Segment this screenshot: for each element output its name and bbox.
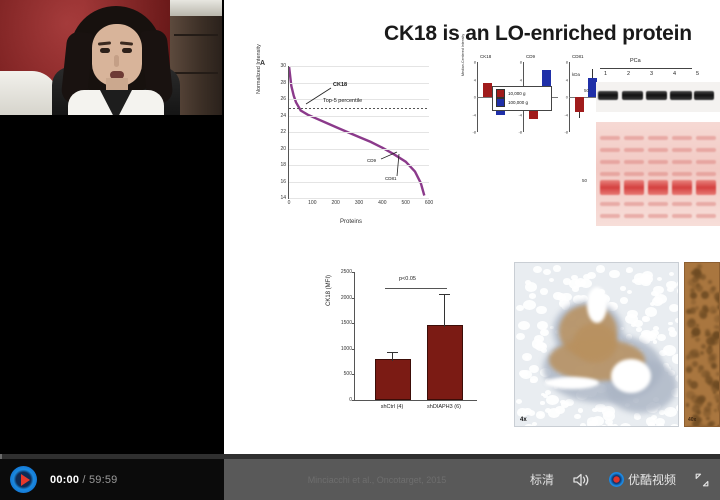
- alveolar-space: [620, 297, 628, 304]
- blot-lane-number: 2: [627, 71, 630, 77]
- dab-stained-cell: [708, 280, 712, 284]
- dab-stained-cell: [698, 395, 705, 402]
- alveolar-space: [659, 410, 665, 415]
- fullscreen-button[interactable]: [694, 472, 710, 488]
- alveolar-space: [523, 408, 531, 415]
- cabinet-drawer-line: [174, 72, 218, 74]
- bar-chart-bar: [375, 359, 411, 400]
- line-chart-x-tick: 0: [288, 200, 291, 206]
- alveolar-space: [657, 277, 662, 281]
- ponceau-faint-band: [648, 148, 668, 152]
- dab-stained-cell: [709, 306, 717, 314]
- dab-stained-cell: [708, 339, 715, 346]
- line-chart-y-tick: 22: [280, 129, 286, 135]
- dab-stained-cell: [700, 274, 706, 280]
- alveolar-space: [651, 415, 657, 420]
- dab-stained-cell: [709, 288, 715, 294]
- dab-stained-cell: [695, 337, 700, 342]
- ponceau-faint-band: [672, 202, 692, 206]
- legend-item: 10,000 g: [496, 89, 548, 98]
- alveolar-space: [523, 300, 536, 310]
- volume-button[interactable]: [572, 472, 591, 488]
- dab-stained-cell: [691, 299, 696, 304]
- alveolar-space: [561, 401, 570, 408]
- dab-stained-cell: [687, 319, 696, 328]
- alveolar-space: [546, 395, 559, 405]
- bar-chart-y-axis-label: CK18 (MFI): [326, 275, 332, 306]
- bar-chart-plot: 05001000150020002500 shCtrl (4)shDIAPH3 …: [354, 272, 477, 401]
- alveolar-space: [540, 343, 546, 348]
- mini-chart-title: CD9: [526, 54, 535, 59]
- alveolar-space: [642, 316, 649, 321]
- western-blot: PCa kDa 50 12345: [570, 58, 720, 116]
- fullscreen-icon: [694, 472, 710, 488]
- annotation-top5: Top-5 percentile: [323, 98, 362, 104]
- line-chart-gridline: [289, 116, 429, 117]
- ponceau-faint-band: [696, 148, 716, 152]
- dab-stained-cell: [697, 264, 702, 269]
- alveolar-space: [518, 321, 530, 330]
- dab-stained-cell: [711, 363, 717, 369]
- alveolar-space: [608, 423, 613, 427]
- alveolar-space: [609, 270, 619, 278]
- slide-area[interactable]: CK18 is an LO-enriched protein A Normali…: [224, 0, 720, 454]
- alveolar-space: [539, 413, 543, 416]
- mini-chart-title: CK18: [480, 54, 491, 59]
- legend-label-10000g: 10,000 g: [508, 91, 526, 96]
- blot-group-rule: [600, 68, 692, 69]
- ponceau-faint-band: [600, 160, 620, 164]
- line-chart-y-tick: 14: [280, 195, 286, 201]
- legend-swatch-100000g: [496, 98, 505, 107]
- line-chart-gridline: [289, 132, 429, 133]
- alveolar-space: [669, 304, 679, 312]
- ponceau-faint-band: [672, 172, 692, 176]
- blot-band: [670, 91, 692, 100]
- alveolar-space: [672, 354, 679, 364]
- line-chart-gridline: [289, 149, 429, 150]
- brand-label: 优酷视频: [628, 471, 676, 488]
- alveolar-space: [516, 333, 525, 340]
- bar-chart-y-tick: 2000: [341, 295, 352, 301]
- ponceau-faint-band: [600, 148, 620, 152]
- presenter-eye-left: [100, 48, 110, 53]
- ponceau-faint-band: [624, 214, 644, 218]
- cabinet-drawer-line: [174, 34, 218, 36]
- ponceau-faint-band: [624, 202, 644, 206]
- ponceau-faint-band: [600, 202, 620, 206]
- dab-stained-cell: [700, 351, 704, 355]
- line-chart-x-tick: 400: [378, 200, 386, 206]
- bar-chart-error-cap: [387, 352, 398, 353]
- alveolar-space: [563, 278, 571, 284]
- alveolar-space: [675, 318, 679, 323]
- blot-lane-number: 4: [673, 71, 676, 77]
- mini-chart-y-tick: 0: [474, 95, 476, 100]
- blot-marker-label: 50: [584, 88, 589, 93]
- dab-stained-cell: [686, 365, 693, 372]
- line-chart-x-tick: 600: [425, 200, 433, 206]
- alveolar-space: [533, 266, 542, 274]
- mini-chart-y-tick: 8: [566, 60, 568, 65]
- desk: [0, 71, 58, 115]
- slide-citation: Minciacchi et al., Oncotarget, 2015: [224, 475, 530, 485]
- line-chart-y-tick: 24: [280, 113, 286, 119]
- alveolar-space: [534, 335, 544, 343]
- alveolar-space: [575, 278, 586, 287]
- alveolar-space: [603, 411, 615, 421]
- magnification-label-40x: 40x: [688, 417, 696, 423]
- mini-chart-y-tick: -8: [472, 130, 476, 135]
- line-chart-x-tick: 200: [331, 200, 339, 206]
- bar-chart-tick-mark: [352, 272, 355, 273]
- line-chart-gridline: [289, 182, 429, 183]
- bar-chart-y-tick: 500: [344, 371, 352, 377]
- blot-band: [598, 91, 618, 100]
- alveolar-space: [653, 326, 659, 331]
- alveolar-space: [654, 294, 666, 304]
- ponceau-faint-band: [672, 148, 692, 152]
- alveolar-space: [529, 293, 536, 299]
- line-chart-x-tick: 100: [308, 200, 316, 206]
- line-chart-gridline: [289, 83, 429, 84]
- presenter-eye-right: [122, 48, 132, 53]
- bar-chart-bar: [427, 325, 463, 400]
- ponceau-faint-band: [696, 202, 716, 206]
- line-chart-gridline: [289, 165, 429, 166]
- total-time: 59:59: [89, 474, 118, 486]
- bar-chart-tick-mark: [352, 298, 355, 299]
- mini-chart-y-tick: 8: [474, 60, 476, 65]
- alveolar-space: [677, 280, 679, 288]
- alveolar-space: [620, 423, 631, 427]
- line-chart-x-tick: 300: [355, 200, 363, 206]
- ponceau-faint-band: [600, 214, 620, 218]
- dab-stained-cell: [686, 426, 694, 427]
- alveolar-space: [543, 269, 550, 275]
- dab-stained-cell: [706, 417, 709, 420]
- mini-chart-y-tick: 4: [474, 77, 476, 82]
- ponceau-faint-band: [600, 172, 620, 176]
- dab-stained-cell: [686, 403, 690, 407]
- alveolar-space: [557, 293, 566, 300]
- player-toolbar: 00:00 / 59:59 Minciacchi et al., Oncotar…: [0, 459, 720, 500]
- alveolar-space: [580, 423, 587, 427]
- play-icon: [21, 474, 30, 486]
- ponceau-faint-band: [648, 172, 668, 176]
- bar-chart-error-cap: [439, 294, 450, 295]
- alveolar-space: [540, 401, 544, 404]
- mini-chart-y-tick: -4: [518, 112, 522, 117]
- line-chart-y-tick: 16: [280, 179, 286, 185]
- ponceau-band: [696, 180, 716, 195]
- cabinet-top: [170, 0, 222, 16]
- dab-stained-cell: [716, 372, 720, 376]
- significance-bar: [385, 288, 447, 289]
- ponceau-faint-band: [672, 136, 692, 140]
- current-time: 00:00: [50, 474, 79, 486]
- alveolar-space: [522, 353, 532, 361]
- line-chart-y-tick: 30: [280, 63, 286, 69]
- mini-chart-y-tick: -8: [518, 130, 522, 135]
- dab-stained-cell: [692, 276, 699, 283]
- legend-label-100000g: 100,000 g: [508, 100, 528, 105]
- annotation-cd9: CD9: [367, 158, 376, 163]
- blot-kda-label: kDa: [572, 72, 580, 77]
- webcam-feed[interactable]: [0, 0, 222, 115]
- blot-lane-number: 1: [604, 71, 607, 77]
- blot-membrane: [596, 82, 720, 112]
- alveolar-space: [525, 282, 538, 292]
- bar-chart-x-tick: shDIAPH3 (6): [427, 404, 461, 410]
- youku-logo-icon: [609, 472, 624, 487]
- alveolar-space: [634, 273, 646, 283]
- alveolar-space: [669, 330, 678, 337]
- alveolar-space: [548, 408, 560, 417]
- ponceau-stain-gel: [596, 122, 720, 226]
- line-chart-y-axis-label: Normalized Intensity: [256, 44, 262, 94]
- bar-chart-error-bar: [392, 353, 393, 361]
- alveolar-space: [653, 340, 658, 344]
- alveolar-space: [669, 272, 674, 276]
- mini-chart-y-tick: -8: [564, 130, 568, 135]
- ponceau-faint-band: [624, 148, 644, 152]
- dab-stained-cell: [688, 351, 696, 359]
- dab-stained-cell: [695, 306, 699, 310]
- presenter: [62, 6, 170, 115]
- dab-stained-cell: [703, 425, 706, 427]
- alveolar-space: [596, 265, 605, 272]
- ponceau-faint-band: [696, 172, 716, 176]
- alveolar-space: [645, 307, 657, 317]
- line-chart-x-axis-label: Proteins: [340, 219, 362, 225]
- micrograph-40x[interactable]: 40x: [684, 262, 720, 427]
- ponceau-faint-band: [624, 172, 644, 176]
- ponceau-band: [648, 180, 668, 195]
- alveolar-space: [670, 424, 679, 427]
- alveolar-space: [571, 426, 583, 427]
- ponceau-faint-band: [624, 136, 644, 140]
- mini-chart-legend: 10,000 g 100,000 g: [492, 86, 552, 111]
- bar-chart-tick-mark: [352, 374, 355, 375]
- ponceau-faint-band: [648, 160, 668, 164]
- ponceau-faint-band: [600, 136, 620, 140]
- alveolar-space: [519, 370, 527, 377]
- dab-stained-cell: [709, 421, 714, 426]
- dab-stained-cell: [704, 406, 710, 412]
- dab-stained-cell: [714, 315, 720, 322]
- volume-icon: [572, 472, 591, 488]
- ponceau-faint-band: [672, 214, 692, 218]
- micrograph-4x[interactable]: 4x: [514, 262, 679, 427]
- dab-stained-cell: [714, 394, 720, 401]
- line-chart-x-tick: 500: [401, 200, 409, 206]
- line-chart-y-tick: 18: [280, 162, 286, 168]
- dab-stained-cell: [692, 361, 698, 367]
- mini-chart-y-tick: -4: [564, 112, 568, 117]
- alveolar-space: [530, 376, 538, 382]
- ponceau-faint-band: [648, 136, 668, 140]
- alveolar-space: [572, 286, 579, 292]
- mini-chart-bar: [483, 83, 492, 97]
- bar-chart-tick-mark: [352, 400, 355, 401]
- line-chart-y-tick: 26: [280, 96, 286, 102]
- blot-band: [694, 91, 714, 100]
- line-chart-gridline: [289, 66, 429, 67]
- ponceau-faint-band: [648, 202, 668, 206]
- ponceau-faint-band: [672, 160, 692, 164]
- mini-chart-y-tick: 0: [566, 95, 568, 100]
- alveolar-space: [658, 423, 664, 427]
- annotation-ck18: CK18: [333, 82, 347, 88]
- ponceau-marker-label: 50: [582, 178, 587, 183]
- alveolar-space: [549, 278, 554, 282]
- ponceau-faint-band: [624, 160, 644, 164]
- alveolar-space: [631, 323, 636, 327]
- ck18-mfi-bar-chart: CK18 (MFI) 05001000150020002500 shCtrl (…: [324, 262, 499, 442]
- dab-stained-cell: [690, 292, 697, 299]
- dab-stained-cell: [708, 354, 715, 361]
- alveolar-space: [620, 286, 626, 290]
- significance-label: p<0.05: [399, 276, 416, 282]
- bar-chart-tick-mark: [352, 323, 355, 324]
- dab-stained-cell: [701, 291, 709, 299]
- mini-chart-y-tick: 4: [520, 77, 522, 82]
- alveolar-space: [529, 365, 539, 373]
- quality-button[interactable]: 标清: [530, 471, 554, 488]
- dab-stained-cell: [700, 312, 707, 319]
- mini-chart-y-tick: 8: [520, 60, 522, 65]
- dab-stained-cell: [692, 329, 699, 336]
- ponceau-faint-band: [696, 160, 716, 164]
- time-separator: /: [82, 474, 85, 486]
- alveolar-space: [516, 305, 523, 311]
- line-chart-y-tick: 28: [280, 80, 286, 86]
- bar-chart-y-tick: 1000: [341, 346, 352, 352]
- dab-stained-lesion: [573, 323, 617, 363]
- bar-chart-error-bar: [444, 295, 445, 327]
- blot-group-label: PCa: [630, 58, 641, 64]
- mini-chart-y-label: Median-Centered Intensity: [461, 34, 465, 76]
- alveolar-space: [657, 334, 666, 342]
- mini-chart-y-tick: -4: [472, 112, 476, 117]
- alveolar-space: [578, 408, 583, 412]
- protein-rank-line-chart: A Normalized Intensity Proteins 14161820…: [258, 58, 443, 233]
- dab-stained-cell: [696, 283, 699, 286]
- alveolar-space: [532, 422, 537, 426]
- brand-button[interactable]: 优酷视频: [609, 471, 676, 488]
- presenter-nose: [114, 55, 119, 67]
- alveolar-space: [666, 281, 677, 290]
- airway-lumen: [611, 359, 651, 393]
- bar-chart-x-tick: shCtrl (4): [381, 404, 404, 410]
- alveolar-space: [516, 399, 522, 404]
- dab-stained-cell: [700, 423, 704, 427]
- ponceau-faint-band: [696, 136, 716, 140]
- video-player: CK18 is an LO-enriched protein A Normali…: [0, 0, 720, 500]
- blot-band: [646, 91, 667, 100]
- bar-chart-y-tick: 2500: [341, 269, 352, 275]
- line-chart-plot: 141618202224262830 0100200300400500600 C…: [288, 66, 429, 199]
- alveolar-space: [653, 286, 664, 295]
- bar-chart-y-tick: 1500: [341, 320, 352, 326]
- dab-stained-cell: [711, 383, 719, 391]
- alveolar-space: [536, 306, 546, 314]
- play-controls: 00:00 / 59:59: [0, 459, 224, 500]
- ponceau-band: [624, 180, 644, 195]
- annotation-cd81: CD81: [385, 176, 397, 181]
- alveolar-space: [677, 287, 679, 295]
- blot-lane-number: 3: [650, 71, 653, 77]
- ponceau-band: [600, 180, 620, 195]
- play-button[interactable]: [10, 466, 37, 493]
- blot-band: [622, 91, 643, 100]
- ponceau-faint-band: [648, 214, 668, 218]
- ponceau-faint-band: [696, 214, 716, 218]
- legend-item: 100,000 g: [496, 98, 548, 107]
- dab-stained-cell: [696, 324, 699, 327]
- line-chart-gridline: [289, 198, 429, 199]
- ponceau-band: [672, 180, 692, 195]
- alveolar-space: [540, 288, 549, 295]
- alveolar-space: [553, 265, 561, 272]
- airway-lumen: [587, 287, 607, 323]
- blot-lane-number: 5: [696, 71, 699, 77]
- mini-chart-y-tick: 4: [566, 77, 568, 82]
- bar-chart-tick-mark: [352, 349, 355, 350]
- alveolar-space: [636, 327, 642, 332]
- dab-stained-cell: [715, 334, 720, 339]
- alveolar-space: [626, 267, 633, 273]
- time-display: 00:00 / 59:59: [50, 474, 117, 486]
- alveolar-space: [574, 414, 581, 419]
- airway-lumen: [545, 377, 599, 389]
- legend-swatch-10000g: [496, 89, 505, 98]
- slide-title: CK18 is an LO-enriched protein: [384, 22, 692, 46]
- alveolar-space: [627, 290, 632, 294]
- magnification-label-4x: 4x: [520, 417, 527, 423]
- dab-stained-cell: [714, 409, 717, 412]
- alveolar-space: [668, 322, 672, 325]
- line-chart-y-tick: 20: [280, 146, 286, 152]
- alveolar-space: [664, 407, 677, 417]
